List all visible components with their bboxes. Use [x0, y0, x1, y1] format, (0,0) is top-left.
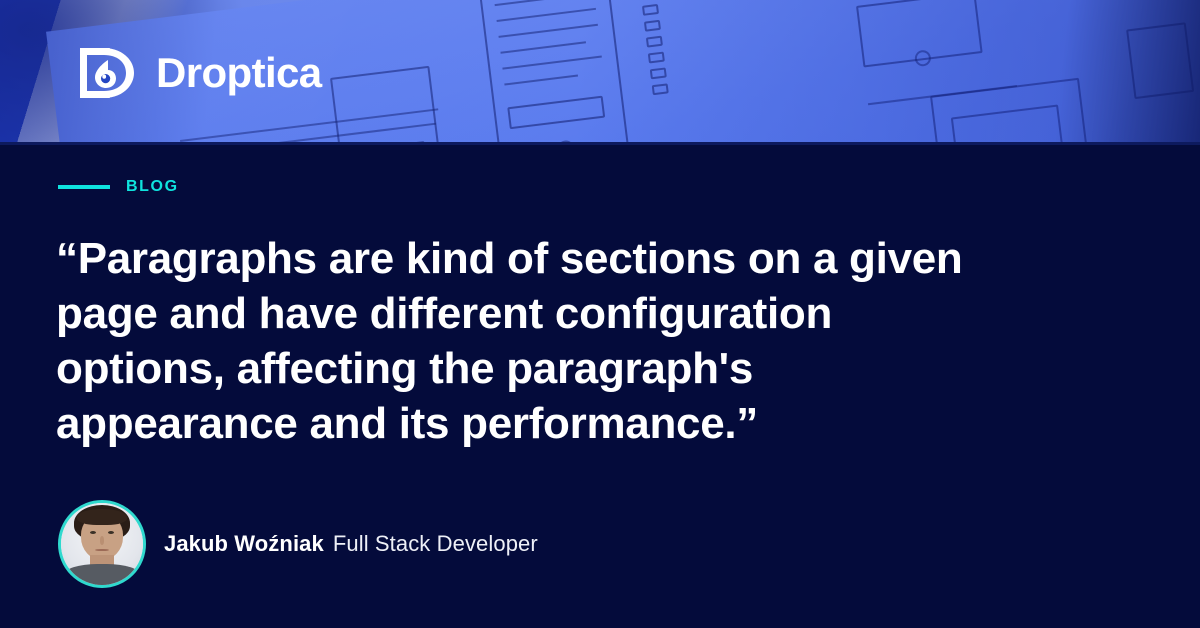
- author-block: Jakub Woźniak Full Stack Developer: [58, 500, 538, 588]
- blog-quote-card: Droptica BLOG “Paragraphs are kind of se…: [0, 0, 1200, 628]
- category-label: BLOG: [126, 178, 179, 196]
- avatar: [58, 500, 146, 588]
- horizontal-rule-icon: [58, 185, 110, 189]
- droptica-drop-logo-icon: [74, 40, 140, 106]
- eyebrow: BLOG: [58, 178, 179, 196]
- author-name: Jakub Woźniak: [164, 531, 324, 557]
- quote-line: options, affecting the paragraph's: [56, 341, 1066, 396]
- quote-text: “Paragraphs are kind of sections on a gi…: [56, 231, 1066, 451]
- brand-name: Droptica: [156, 52, 322, 94]
- author-role: Full Stack Developer: [333, 531, 538, 557]
- quote-line: page and have different configuration: [56, 286, 1066, 341]
- brand-logo[interactable]: Droptica: [74, 40, 322, 106]
- author-avatar-photo-icon: [61, 503, 143, 585]
- quote-line: “Paragraphs are kind of sections on a gi…: [56, 231, 1066, 286]
- banner-bottom-rule: [0, 142, 1200, 145]
- quote-line: appearance and its performance.”: [56, 396, 1066, 451]
